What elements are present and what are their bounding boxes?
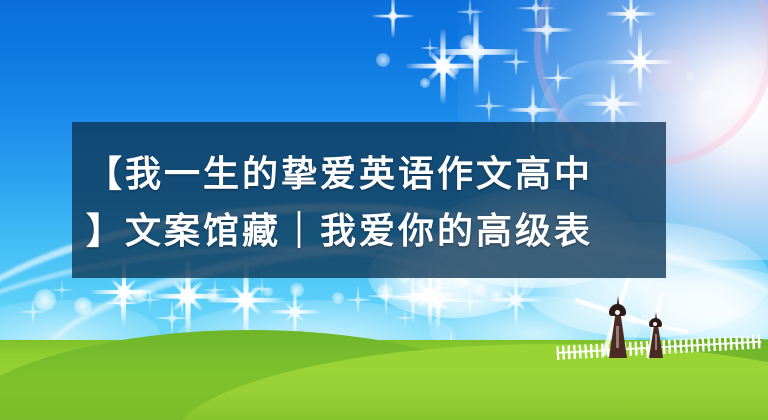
- windmill-door: [616, 326, 619, 348]
- title-line-2: 】文案馆藏｜我爱你的高级表: [86, 203, 652, 260]
- windmill-hub: [615, 310, 620, 315]
- title-line-1: 【我一生的挚爱英语作文高中: [86, 146, 652, 203]
- windmill-small: [640, 312, 672, 358]
- windmill-large: [598, 296, 638, 358]
- cover-image: 【我一生的挚爱英语作文高中 】文案馆藏｜我爱你的高级表: [0, 0, 768, 420]
- windmill-hub: [653, 322, 657, 326]
- title-banner: 【我一生的挚爱英语作文高中 】文案馆藏｜我爱你的高级表: [72, 122, 666, 278]
- windmill-door: [655, 334, 657, 350]
